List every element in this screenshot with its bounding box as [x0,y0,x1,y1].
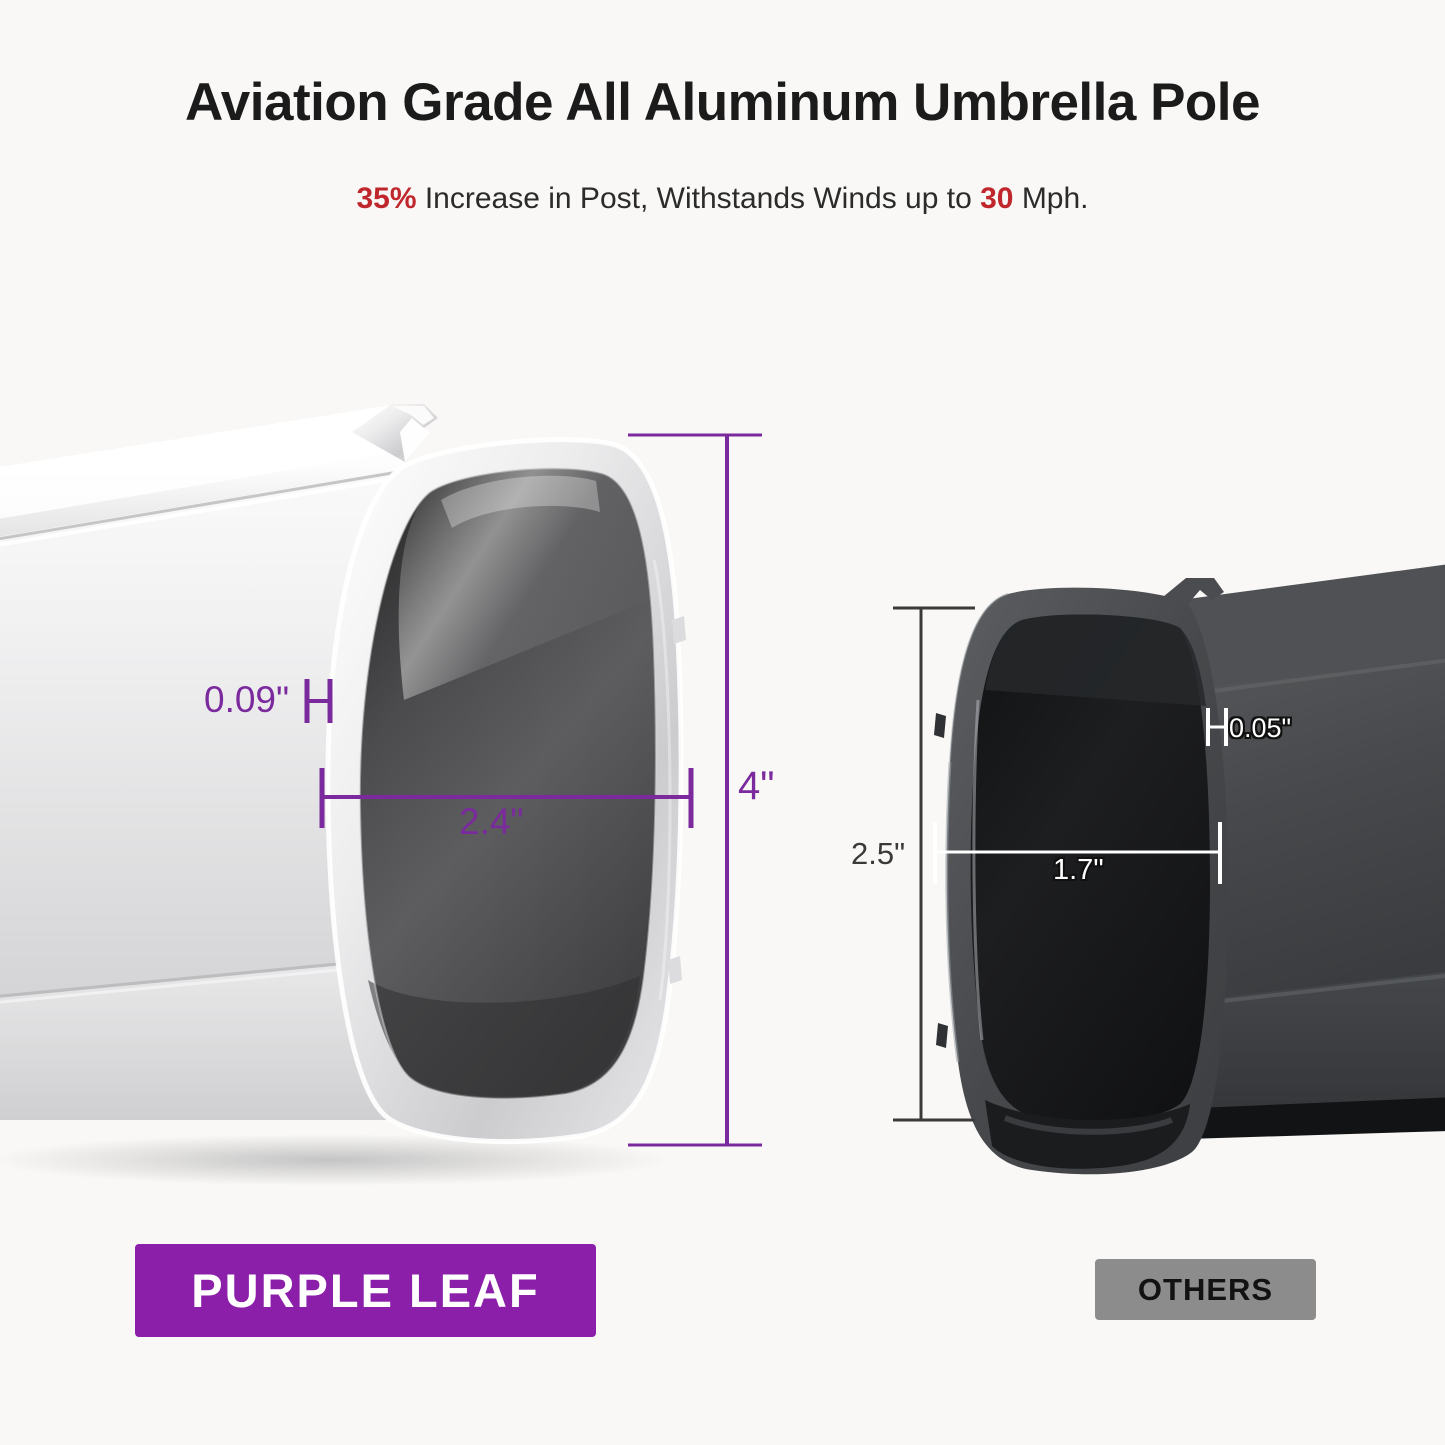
right-width-label: 1.7" [1053,856,1104,885]
left-width-label: 2.4" [459,803,524,840]
left-wall-thickness-label: 0.09" [204,681,289,718]
brand-badge-purple-leaf: PURPLE LEAF [135,1244,596,1337]
right-height-label: 2.5" [851,838,905,869]
left-height-label: 4" [738,766,774,806]
right-pole-illustration [934,560,1445,1174]
infographic-canvas: Aviation Grade All Aluminum Umbrella Pol… [0,0,1445,1445]
brand-badge-others: OTHERS [1095,1259,1316,1320]
right-wall-thickness-label: 0.05" [1229,715,1291,742]
